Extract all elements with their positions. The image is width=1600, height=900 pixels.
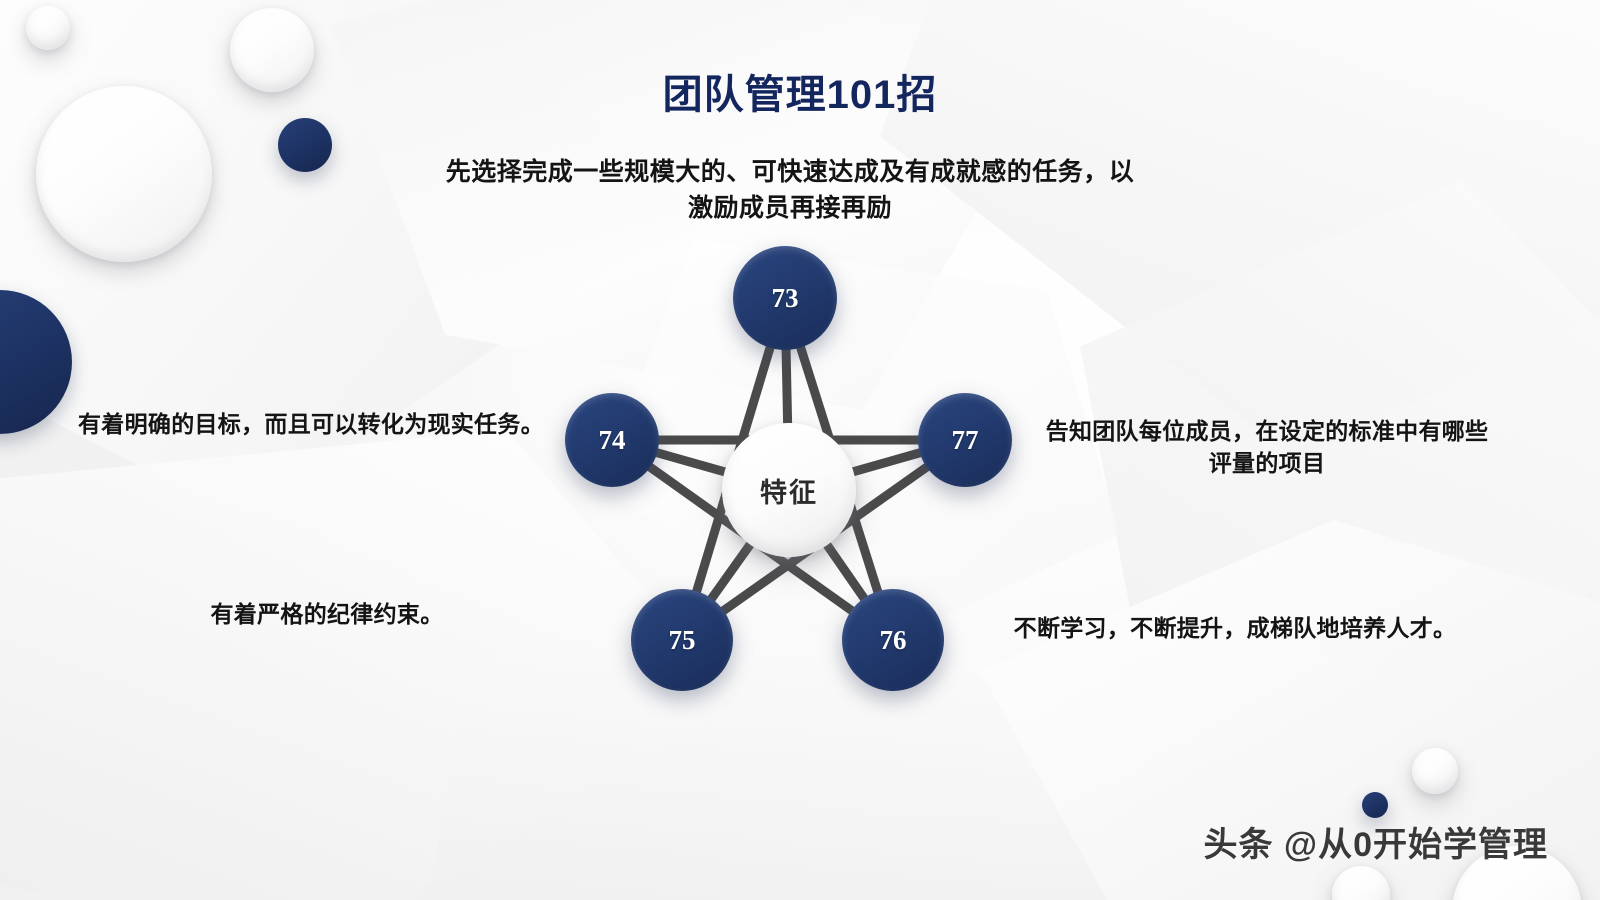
watermark-text: 头条 @从0开始学管理 (1203, 817, 1548, 866)
decorative-circle-small (26, 6, 70, 50)
pentagon-diagram: 特征 73 74 77 75 76 (540, 240, 1050, 700)
diagram-node-label: 76 (880, 625, 907, 656)
decorative-circle-navy-small (1362, 792, 1388, 818)
caption-left-upper: 有着明确的目标，而且可以转化为现实任务。 (72, 408, 550, 440)
decorative-circle-medium (1412, 748, 1458, 794)
diagram-node-77[interactable]: 77 (918, 393, 1012, 487)
decorative-circle-navy-small (278, 118, 332, 172)
diagram-node-label: 74 (599, 425, 626, 456)
diagram-node-73[interactable]: 73 (733, 246, 837, 350)
caption-right-upper: 告知团队每位成员，在设定的标准中有哪些评量的项目 (1042, 415, 1492, 479)
diagram-node-75[interactable]: 75 (631, 589, 733, 691)
diagram-hub[interactable]: 特征 (722, 423, 856, 557)
diagram-node-76[interactable]: 76 (842, 589, 944, 691)
diagram-node-label: 75 (669, 625, 696, 656)
page-subtitle: 先选择完成一些规模大的、可快速达成及有成就感的任务，以激励成员再接再励 (440, 155, 1140, 226)
slide-canvas: 团队管理101招 先选择完成一些规模大的、可快速达成及有成就感的任务，以激励成员… (0, 0, 1600, 900)
caption-left-lower: 有着严格的纪律约束。 (132, 598, 522, 630)
diagram-node-label: 77 (952, 425, 979, 456)
diagram-hub-label: 特征 (760, 471, 818, 510)
diagram-node-74[interactable]: 74 (565, 393, 659, 487)
diagram-node-label: 73 (772, 283, 799, 314)
caption-right-lower: 不断学习，不断提升，成梯队地培养人才。 (1000, 612, 1470, 644)
page-title: 团队管理101招 (0, 62, 1600, 120)
